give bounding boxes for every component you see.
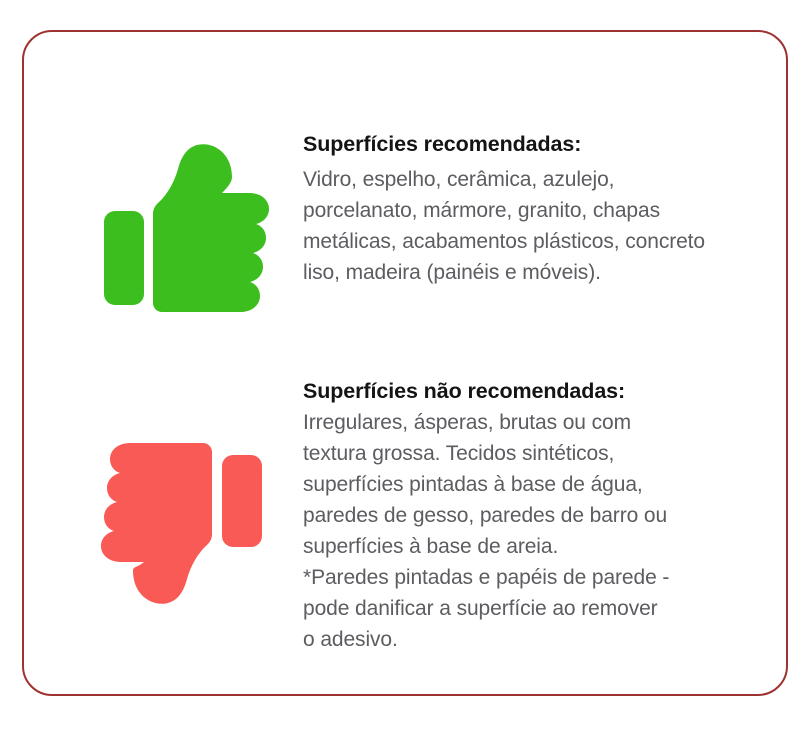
thumbs-down-icon — [82, 442, 282, 622]
thumbs-up-icon-container — [82, 127, 282, 327]
body-line: superfícies pintadas à base de água, — [303, 469, 803, 500]
body-line: paredes de gesso, paredes de barro ou — [303, 500, 803, 531]
body-line: superfícies à base de areia. — [303, 531, 803, 562]
recommended-text-block: Superfícies recomendadas: Vidro, espelho… — [303, 130, 803, 288]
body-line: metálicas, acabamentos plásticos, concre… — [303, 226, 803, 257]
thumbs-down-icon-container — [82, 442, 282, 622]
body-line: liso, madeira (painéis e móveis). — [303, 257, 803, 288]
surface-recommendation-card: Superfícies recomendadas: Vidro, espelho… — [22, 30, 788, 696]
body-line: textura grossa. Tecidos sintéticos, — [303, 438, 803, 469]
body-line: o adesivo. — [303, 624, 803, 655]
body-line: porcelanato, mármore, granito, chapas — [303, 195, 803, 226]
thumbs-up-icon — [82, 127, 282, 327]
recommended-body: Vidro, espelho, cerâmica, azulejo, porce… — [303, 164, 803, 288]
not-recommended-heading: Superfícies não recomendadas: — [303, 377, 803, 405]
body-line: *Paredes pintadas e papéis de parede - — [303, 562, 803, 593]
not-recommended-body: Irregulares, ásperas, brutas ou com text… — [303, 407, 803, 655]
body-line: pode danificar a superfície ao remover — [303, 593, 803, 624]
body-line: Vidro, espelho, cerâmica, azulejo, — [303, 164, 803, 195]
recommended-heading: Superfícies recomendadas: — [303, 130, 803, 158]
not-recommended-text-block: Superfícies não recomendadas: Irregulare… — [303, 377, 803, 655]
body-line: Irregulares, ásperas, brutas ou com — [303, 407, 803, 438]
